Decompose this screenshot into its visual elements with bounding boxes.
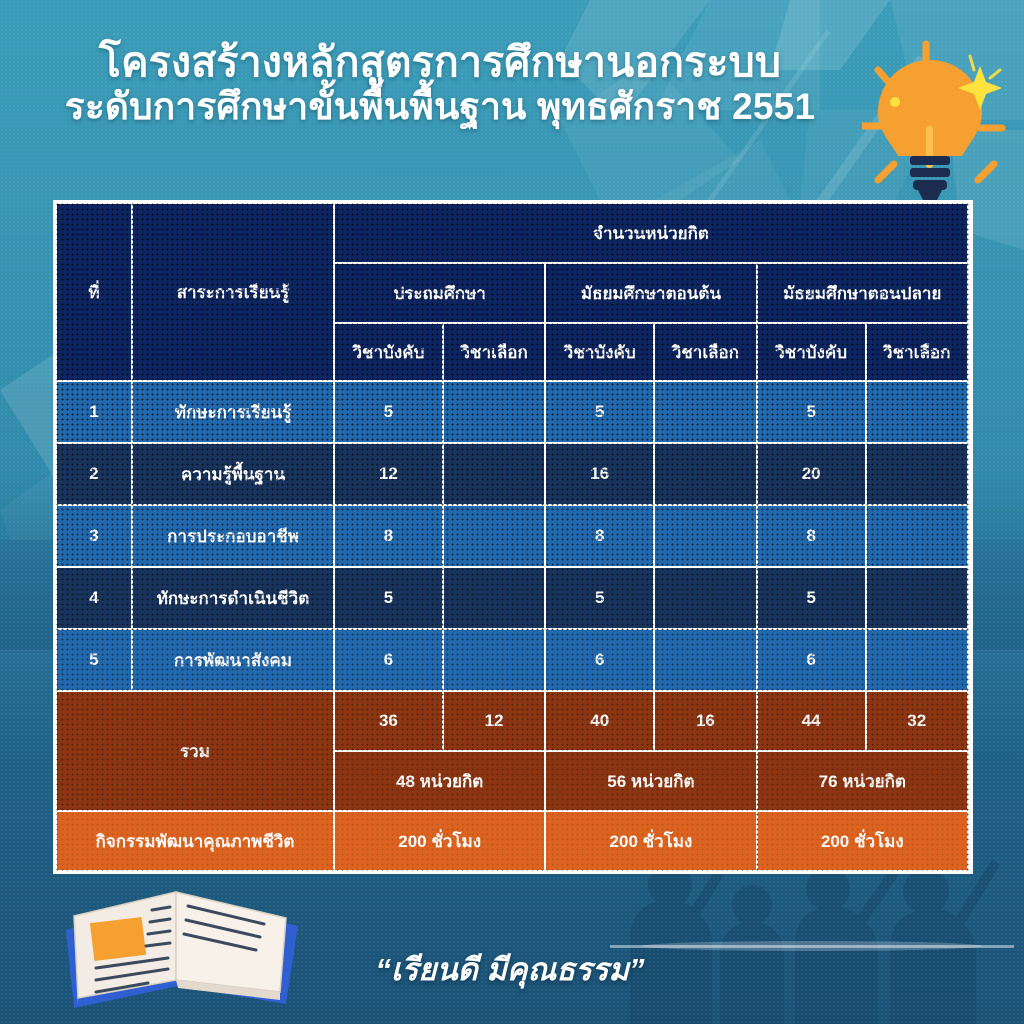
- activity-label: กิจกรรมพัฒนาคุณภาพชีวิต: [57, 812, 333, 870]
- header-level-primary: ประถมศึกษา: [335, 264, 544, 322]
- row-value: [655, 382, 755, 442]
- total-value: 12: [444, 692, 544, 750]
- header-level-upper-secondary: มัธยมศึกษาตอนปลาย: [758, 264, 967, 322]
- row-value: 6: [546, 630, 653, 690]
- row-value: [444, 630, 544, 690]
- row-value: [867, 630, 967, 690]
- total-sum: 76 หน่วยกิต: [758, 752, 967, 810]
- row-value: [444, 444, 544, 504]
- table-row: 1 ทักษะการเรียนรู้ 5 5 5: [57, 382, 969, 442]
- total-sum: 48 หน่วยกิต: [335, 752, 544, 810]
- row-subject: ความรู้พื้นฐาน: [133, 444, 333, 504]
- row-value: 6: [335, 630, 442, 690]
- table-row: 4 ทักษะการดำเนินชีวิต 5 5 5: [57, 568, 969, 628]
- row-no: 5: [57, 630, 131, 690]
- row-value: 8: [335, 506, 442, 566]
- row-value: [444, 506, 544, 566]
- total-label: รวม: [57, 692, 333, 810]
- row-subject: ทักษะการเรียนรู้: [133, 382, 333, 442]
- row-subject: การพัฒนาสังคม: [133, 630, 333, 690]
- header-level-lower-secondary: มัธยมศึกษาตอนต้น: [546, 264, 755, 322]
- header-sub-required-2: วิชาบังคับ: [546, 324, 653, 380]
- slogan-quote: “เรียนดี มีคุณธรรม”: [300, 944, 720, 994]
- row-value: [867, 382, 967, 442]
- row-value: 5: [546, 568, 653, 628]
- row-value: [655, 444, 755, 504]
- total-sum: 56 หน่วยกิต: [546, 752, 755, 810]
- row-value: [655, 506, 755, 566]
- row-no: 1: [57, 382, 131, 442]
- total-row-values: รวม 36 12 40 16 44 32: [57, 692, 969, 750]
- lightbulb-icon: [862, 40, 1012, 210]
- table-header-row-1: ที่ สาระการเรียนรู้ จำนวนหน่วยกิต: [57, 204, 969, 262]
- table-row: 5 การพัฒนาสังคม 6 6 6: [57, 630, 969, 690]
- row-value: [867, 506, 967, 566]
- row-no: 2: [57, 444, 131, 504]
- row-subject: ทักษะการดำเนินชีวิต: [133, 568, 333, 628]
- activity-value: 200 ชั่วโมง: [335, 812, 544, 870]
- row-value: 8: [546, 506, 653, 566]
- row-value: [655, 568, 755, 628]
- row-subject: การประกอบอาชีพ: [133, 506, 333, 566]
- header-subject: สาระการเรียนรู้: [133, 204, 333, 380]
- row-value: [444, 568, 544, 628]
- title-line-1: โครงสร้างหลักสูตรการศึกษานอกระบบ: [0, 40, 880, 86]
- activity-value: 200 ชั่วโมง: [758, 812, 967, 870]
- activity-value: 200 ชั่วโมง: [546, 812, 755, 870]
- activity-row: กิจกรรมพัฒนาคุณภาพชีวิต 200 ชั่วโมง 200 …: [57, 812, 969, 870]
- total-value: 36: [335, 692, 442, 750]
- title-line-2: ระดับการศึกษาขั้นพื้นพื้นฐาน พุทธศักราช …: [0, 86, 880, 127]
- row-value: 12: [335, 444, 442, 504]
- header-sub-elective-3: วิชาเลือก: [867, 324, 967, 380]
- row-value: 20: [758, 444, 865, 504]
- row-no: 3: [57, 506, 131, 566]
- header-sub-required-3: วิชาบังคับ: [758, 324, 865, 380]
- row-value: [655, 630, 755, 690]
- total-value: 44: [758, 692, 865, 750]
- header-credits: จำนวนหน่วยกิต: [335, 204, 967, 262]
- header-sub-elective-1: วิชาเลือก: [444, 324, 544, 380]
- row-value: 16: [546, 444, 653, 504]
- row-value: [444, 382, 544, 442]
- table-row: 2 ความรู้พื้นฐาน 12 16 20: [57, 444, 969, 504]
- row-value: [867, 444, 967, 504]
- row-value: 6: [758, 630, 865, 690]
- total-value: 16: [655, 692, 755, 750]
- header-sub-required-1: วิชาบังคับ: [335, 324, 442, 380]
- row-value: 5: [758, 382, 865, 442]
- curriculum-table: ที่ สาระการเรียนรู้ จำนวนหน่วยกิต ประถมศ…: [53, 200, 973, 874]
- row-value: 5: [335, 382, 442, 442]
- table-row: 3 การประกอบอาชีพ 8 8 8: [57, 506, 969, 566]
- row-value: 8: [758, 506, 865, 566]
- row-value: [867, 568, 967, 628]
- row-value: 5: [546, 382, 653, 442]
- row-value: 5: [758, 568, 865, 628]
- row-no: 4: [57, 568, 131, 628]
- row-value: 5: [335, 568, 442, 628]
- header-no: ที่: [57, 204, 131, 380]
- total-value: 40: [546, 692, 653, 750]
- open-book-icon: [48, 888, 310, 1014]
- page-title: โครงสร้างหลักสูตรการศึกษานอกระบบ ระดับกา…: [0, 40, 880, 127]
- header-sub-elective-2: วิชาเลือก: [655, 324, 755, 380]
- total-value: 32: [867, 692, 967, 750]
